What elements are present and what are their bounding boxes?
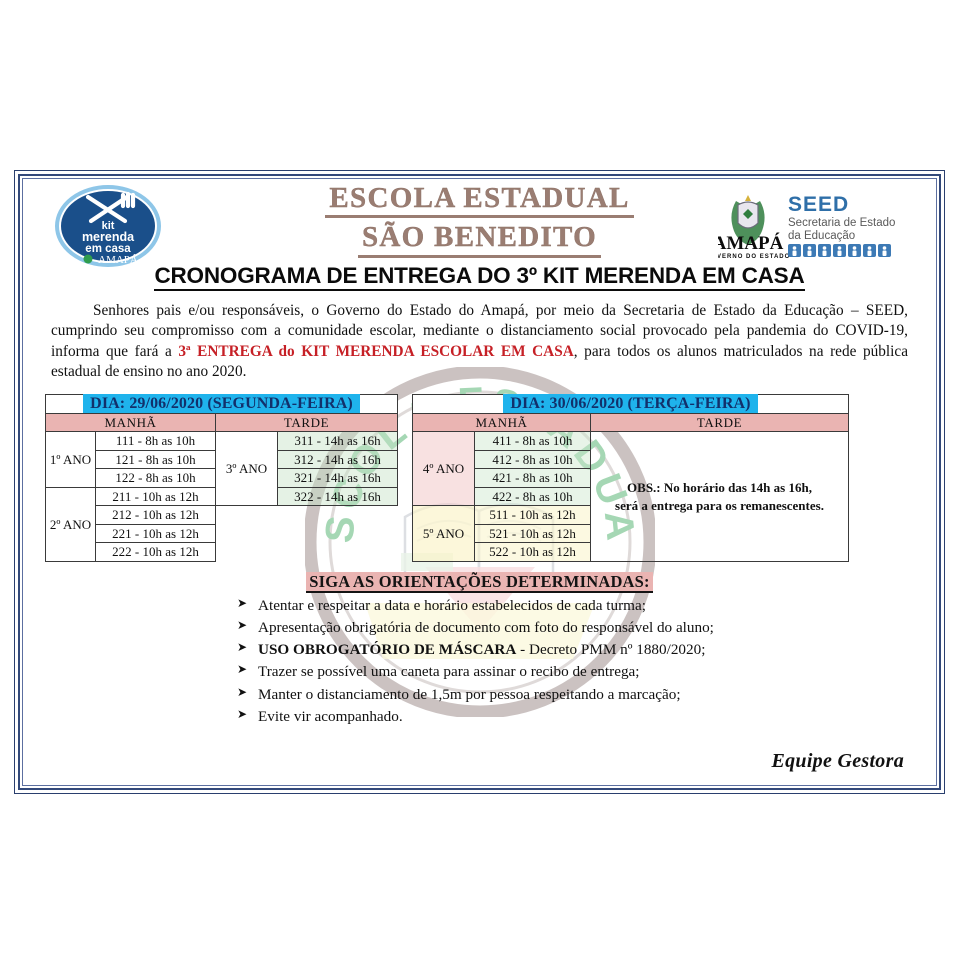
table-row: DIA: 29/06/2020 (SEGUNDA-FEIRA) xyxy=(46,395,398,414)
table-row: DIA: 30/06/2020 (TERÇA-FEIRA) xyxy=(413,395,849,414)
slot-cell: 322 - 14h as 16h xyxy=(278,487,398,506)
school-title-line2: SÃO BENEDITO xyxy=(358,222,601,257)
frame-inner-1: ESCOLA ESTADUAL xyxy=(18,174,941,790)
document-sheet: ESCOLA ESTADUAL xyxy=(14,170,945,794)
orientation-bold-prefix: USO OBROGATÓRIO DE MÁSCARA xyxy=(258,641,516,658)
year-label-4ano: 4º ANO xyxy=(413,432,475,506)
table-row: MANHÃ TARDE xyxy=(46,413,398,432)
obs-cell: OBS.: No horário das 14h as 16h, será a … xyxy=(591,432,849,562)
day2-header-text: DIA: 30/06/2020 (TERÇA-FEIRA) xyxy=(503,394,757,413)
table-row: 212 - 10h as 12h xyxy=(46,506,398,525)
slot-cell: 411 - 8h as 10h xyxy=(475,432,591,451)
slot-cell: 511 - 10h as 12h xyxy=(475,506,591,525)
signature: Equipe Gestora xyxy=(771,750,904,773)
day1-header-text: DIA: 29/06/2020 (SEGUNDA-FEIRA) xyxy=(83,394,360,413)
table-row: 222 - 10h as 12h xyxy=(46,543,398,562)
orientation-text: Manter o distanciamento de 1,5m por pess… xyxy=(258,686,681,703)
orientation-text: Trazer se possível uma caneta para assin… xyxy=(258,663,640,680)
slot-cell: 121 - 8h as 10h xyxy=(96,450,216,469)
list-item: Apresentação obrigatória de documento co… xyxy=(237,617,936,639)
slot-cell: 422 - 8h as 10h xyxy=(475,487,591,506)
schedule-tables: DIA: 29/06/2020 (SEGUNDA-FEIRA) MANHÃ TA… xyxy=(45,394,914,562)
shift-header-afternoon: TARDE xyxy=(591,413,849,432)
slot-cell: 222 - 10h as 12h xyxy=(96,543,216,562)
day-header-cell: DIA: 30/06/2020 (TERÇA-FEIRA) xyxy=(413,395,849,414)
slot-cell: 522 - 10h as 12h xyxy=(475,543,591,562)
list-item: Atentar e respeitar a data e horário est… xyxy=(237,595,936,617)
table-row: 4º ANO 411 - 8h as 10h OBS.: No horário … xyxy=(413,432,849,451)
day-header-cell: DIA: 29/06/2020 (SEGUNDA-FEIRA) xyxy=(46,395,398,414)
table-row: 221 - 10h as 12h xyxy=(46,524,398,543)
list-item: Evite vir acompanhado. xyxy=(237,706,936,728)
schedule-table-day2: DIA: 30/06/2020 (TERÇA-FEIRA) MANHÃ TARD… xyxy=(412,394,849,562)
year-label-1ano: 1º ANO xyxy=(46,432,96,488)
schedule-table-day1: DIA: 29/06/2020 (SEGUNDA-FEIRA) MANHÃ TA… xyxy=(45,394,398,562)
main-title-text: CRONOGRAMA DE ENTREGA DO 3º KIT MERENDA … xyxy=(154,263,804,291)
shift-header-morning: MANHÃ xyxy=(413,413,591,432)
seed-acronym: SEED xyxy=(788,193,849,216)
slot-cell: 111 - 8h as 10h xyxy=(96,432,216,451)
orientations-title: SIGA AS ORIENTAÇÕES DETERMINADAS: xyxy=(23,572,936,592)
amapa-wordmark: AMAPÁ xyxy=(718,232,784,254)
orientation-text: - Decreto PMM nº 1880/2020; xyxy=(516,641,705,658)
table-row: 1º ANO 111 - 8h as 10h 3º ANO 311 - 14h … xyxy=(46,432,398,451)
slot-cell: 521 - 10h as 12h xyxy=(475,524,591,543)
shift-header-morning: MANHÃ xyxy=(46,413,216,432)
slot-cell: 122 - 8h as 10h xyxy=(96,469,216,488)
orientations-list: Atentar e respeitar a data e horário est… xyxy=(23,595,936,728)
year-label-3ano: 3º ANO xyxy=(216,432,278,506)
slot-cell: 321 - 14h as 16h xyxy=(278,469,398,488)
seed-amapa-logo: AMAPÁ GOVERNO DO ESTADO SEED Secretaria … xyxy=(718,187,908,261)
table-row: MANHÃ TARDE xyxy=(413,413,849,432)
intro-highlight: 3ª ENTREGA do KIT MERENDA ESCOLAR EM CAS… xyxy=(178,343,573,360)
accessibility-icons xyxy=(788,244,891,257)
slot-cell: 221 - 10h as 12h xyxy=(96,524,216,543)
amapa-subtitle: GOVERNO DO ESTADO xyxy=(718,254,790,260)
obs-line1: OBS.: No horário das 14h as 16h, xyxy=(627,480,812,495)
year-label-5ano: 5º ANO xyxy=(413,506,475,562)
frame-inner-2: ESCOLA ESTADUAL xyxy=(22,178,937,786)
list-item: USO OBROGATÓRIO DE MÁSCARA - Decreto PMM… xyxy=(237,639,936,661)
orientations-title-text: SIGA AS ORIENTAÇÕES DETERMINADAS: xyxy=(306,572,653,593)
seed-line2: da Educação xyxy=(788,230,855,242)
slot-cell: 421 - 8h as 10h xyxy=(475,469,591,488)
document-header: kit merenda em casa AMAPÁ ESCOLA ESTADUA… xyxy=(23,179,936,265)
slot-cell: 311 - 14h as 16h xyxy=(278,432,398,451)
list-item: Manter o distanciamento de 1,5m por pess… xyxy=(237,684,936,706)
orientation-text: Atentar e respeitar a data e horário est… xyxy=(258,597,646,614)
orientation-text: Evite vir acompanhado. xyxy=(258,708,403,725)
list-item: Trazer se possível uma caneta para assin… xyxy=(237,661,936,683)
orientation-text: Apresentação obrigatória de documento co… xyxy=(258,619,714,636)
school-title-line1: ESCOLA ESTADUAL xyxy=(325,183,633,218)
year-label-2ano: 2º ANO xyxy=(46,487,96,561)
slot-cell: 212 - 10h as 12h xyxy=(96,506,216,525)
intro-paragraph: Senhores pais e/ou responsáveis, o Gover… xyxy=(51,301,908,382)
obs-line2: será a entrega para os remanescentes. xyxy=(615,498,824,513)
shift-header-afternoon: TARDE xyxy=(216,413,398,432)
slot-cell: 312 - 14h as 16h xyxy=(278,450,398,469)
seed-line1: Secretaria de Estado xyxy=(788,217,895,229)
slot-cell: 211 - 10h as 12h xyxy=(96,487,216,506)
slot-cell: 412 - 8h as 10h xyxy=(475,450,591,469)
